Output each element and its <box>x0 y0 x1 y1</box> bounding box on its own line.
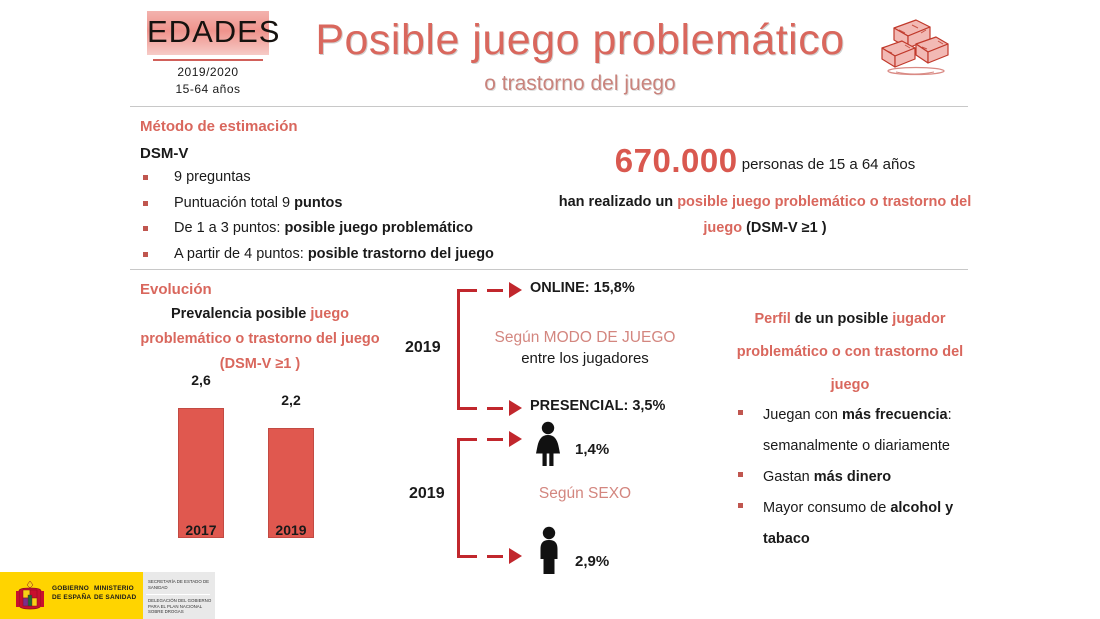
branch-center-line1: Según MODO DE JUEGO <box>480 329 690 347</box>
branch-center-line1: Según SEXO <box>480 485 690 503</box>
male-figure-icon <box>533 526 565 579</box>
branch-arrow-icon <box>509 400 522 416</box>
branch-bracket <box>457 438 477 558</box>
profile-heading-b: de un posible <box>791 311 893 327</box>
edades-logo-period: 2019/2020 <box>147 65 269 79</box>
headline-number: 670.000 <box>615 142 738 179</box>
list-item-text: Gastan <box>763 469 814 485</box>
delegacion-label: DELEGACIÓN DEL GOBIERNO PARA EL PLAN NAC… <box>148 598 212 615</box>
bullet-square-icon <box>738 410 743 415</box>
method-list: 9 preguntas Puntuación total 9 puntos De… <box>140 165 560 267</box>
branch-center-line2: entre los jugadores <box>480 350 690 367</box>
branch-dash <box>487 407 503 410</box>
profile-list: Juegan con más frecuencia: semanalmente … <box>735 400 980 555</box>
bullet-square-icon <box>143 252 148 257</box>
prevalence-bar-chart: 2,6 2017 2,2 2019 <box>150 390 380 560</box>
branch-bottom-label: PRESENCIAL: 3,5% <box>530 398 665 414</box>
list-item-text: Puntuación total 9 <box>174 195 294 211</box>
chart-caption: Prevalencia posible juego problemático o… <box>140 302 380 377</box>
list-item: Mayor consumo de alcohol y tabaco <box>735 493 980 555</box>
list-item-text: De 1 a 3 puntos: <box>174 220 284 236</box>
headline-figure: 670.000 personas de 15 a 64 años han rea… <box>555 142 975 241</box>
branch-dash <box>487 289 503 292</box>
spain-coat-of-arms-icon <box>14 579 46 612</box>
edades-logo-wordmark: EDADES <box>147 9 269 55</box>
bullet-square-icon <box>143 226 148 231</box>
branch-top-label: ONLINE: 15,8% <box>530 280 635 296</box>
branch-dash <box>487 555 503 558</box>
list-item-text: 9 preguntas <box>174 169 251 185</box>
grey-band-separator <box>146 594 210 595</box>
list-item-bold: puntos <box>294 195 342 211</box>
bar-column-2019: 2,2 2019 <box>268 428 314 538</box>
list-item-bold: posible trastorno del juego <box>308 246 494 262</box>
bar-category-label: 2019 <box>268 522 314 538</box>
female-percentage: 1,4% <box>575 441 609 458</box>
branch-year: 2019 <box>405 339 441 357</box>
profile-heading-a: Perfil <box>755 311 791 327</box>
list-item-text: A partir de 4 puntos: <box>174 246 308 262</box>
bullet-square-icon <box>738 472 743 477</box>
gobierno-label: GOBIERNO DE ESPAÑA <box>52 585 91 602</box>
bullet-square-icon <box>143 201 148 206</box>
list-item: A partir de 4 puntos: posible trastorno … <box>140 242 560 268</box>
list-item: De 1 a 3 puntos: posible juego problemát… <box>140 216 560 242</box>
headline-figure-line1: 670.000 personas de 15 a 64 años <box>555 142 975 180</box>
branch-dash <box>487 438 503 441</box>
list-item-bold: más dinero <box>814 469 891 485</box>
edades-logo-age-range: 15-64 años <box>147 82 269 96</box>
footer-logos: GOBIERNO DE ESPAÑA MINISTERIO DE SANIDAD… <box>0 572 215 619</box>
bar-value-label: 2,2 <box>268 392 314 408</box>
method-heading: Método de estimación <box>140 118 298 135</box>
method-instrument: DSM-V <box>140 145 188 162</box>
branch-bracket <box>457 289 477 410</box>
dice-stack-icon <box>872 14 952 80</box>
infographic-slide: EDADES 2019/2020 15-64 años Posible jueg… <box>0 0 1100 619</box>
branch-by-sex: 2019 1,4% Según SEXO 2,9% <box>405 428 705 568</box>
branch-center-caption: Según MODO DE JUEGO entre los jugadores <box>480 329 690 367</box>
branch-mode-of-play: 2019 ONLINE: 15,8% PRESENCIAL: 3,5% Segú… <box>405 282 705 417</box>
chart-caption-a: Prevalencia posible <box>171 306 310 322</box>
list-item: Juegan con más frecuencia: semanalmente … <box>735 400 980 462</box>
list-item-bold: posible juego problemático <box>284 220 473 236</box>
list-item: Puntuación total 9 puntos <box>140 191 560 217</box>
evolution-heading: Evolución <box>140 281 212 298</box>
bar-value-label: 2,6 <box>178 372 224 388</box>
female-figure-icon <box>531 421 565 472</box>
list-item: 9 preguntas <box>140 165 560 191</box>
branch-arrow-icon <box>509 548 522 564</box>
headline-text-a: han realizado un <box>559 194 677 210</box>
list-item-text: Mayor consumo de <box>763 500 890 516</box>
secretaria-label: SECRETARÍA DE ESTADO DE SANIDAD <box>148 579 212 590</box>
divider-middle <box>130 269 968 270</box>
list-item-bold: más frecuencia <box>842 407 948 423</box>
branch-year: 2019 <box>409 485 445 503</box>
branch-arrow-icon <box>509 431 522 447</box>
bar-rect <box>178 408 224 538</box>
list-item: Gastan más dinero <box>735 462 980 493</box>
headline-number-tail: personas de 15 a 64 años <box>738 156 916 173</box>
branch-center-caption: Según SEXO <box>480 485 690 503</box>
male-percentage: 2,9% <box>575 553 609 570</box>
edades-logo-rule <box>153 59 263 61</box>
branch-arrow-icon <box>509 282 522 298</box>
bar-column-2017: 2,6 2017 <box>178 408 224 538</box>
profile-heading: Perfil de un posible jugador problemátic… <box>735 303 965 402</box>
bullet-square-icon <box>738 503 743 508</box>
page-title: Posible juego problemático <box>300 16 860 65</box>
divider-top <box>130 106 968 107</box>
edades-logo: EDADES 2019/2020 15-64 años <box>147 9 269 99</box>
bullet-square-icon <box>143 175 148 180</box>
bar-category-label: 2017 <box>178 522 224 538</box>
headline-text-b: (DSM-V ≥1 ) <box>742 220 827 236</box>
page-subtitle: o trastorno del juego <box>300 72 860 96</box>
headline-figure-line2: han realizado un posible juego problemát… <box>555 189 975 241</box>
list-item-text: Juegan con <box>763 407 842 423</box>
ministerio-label: MINISTERIO DE SANIDAD <box>94 585 136 602</box>
